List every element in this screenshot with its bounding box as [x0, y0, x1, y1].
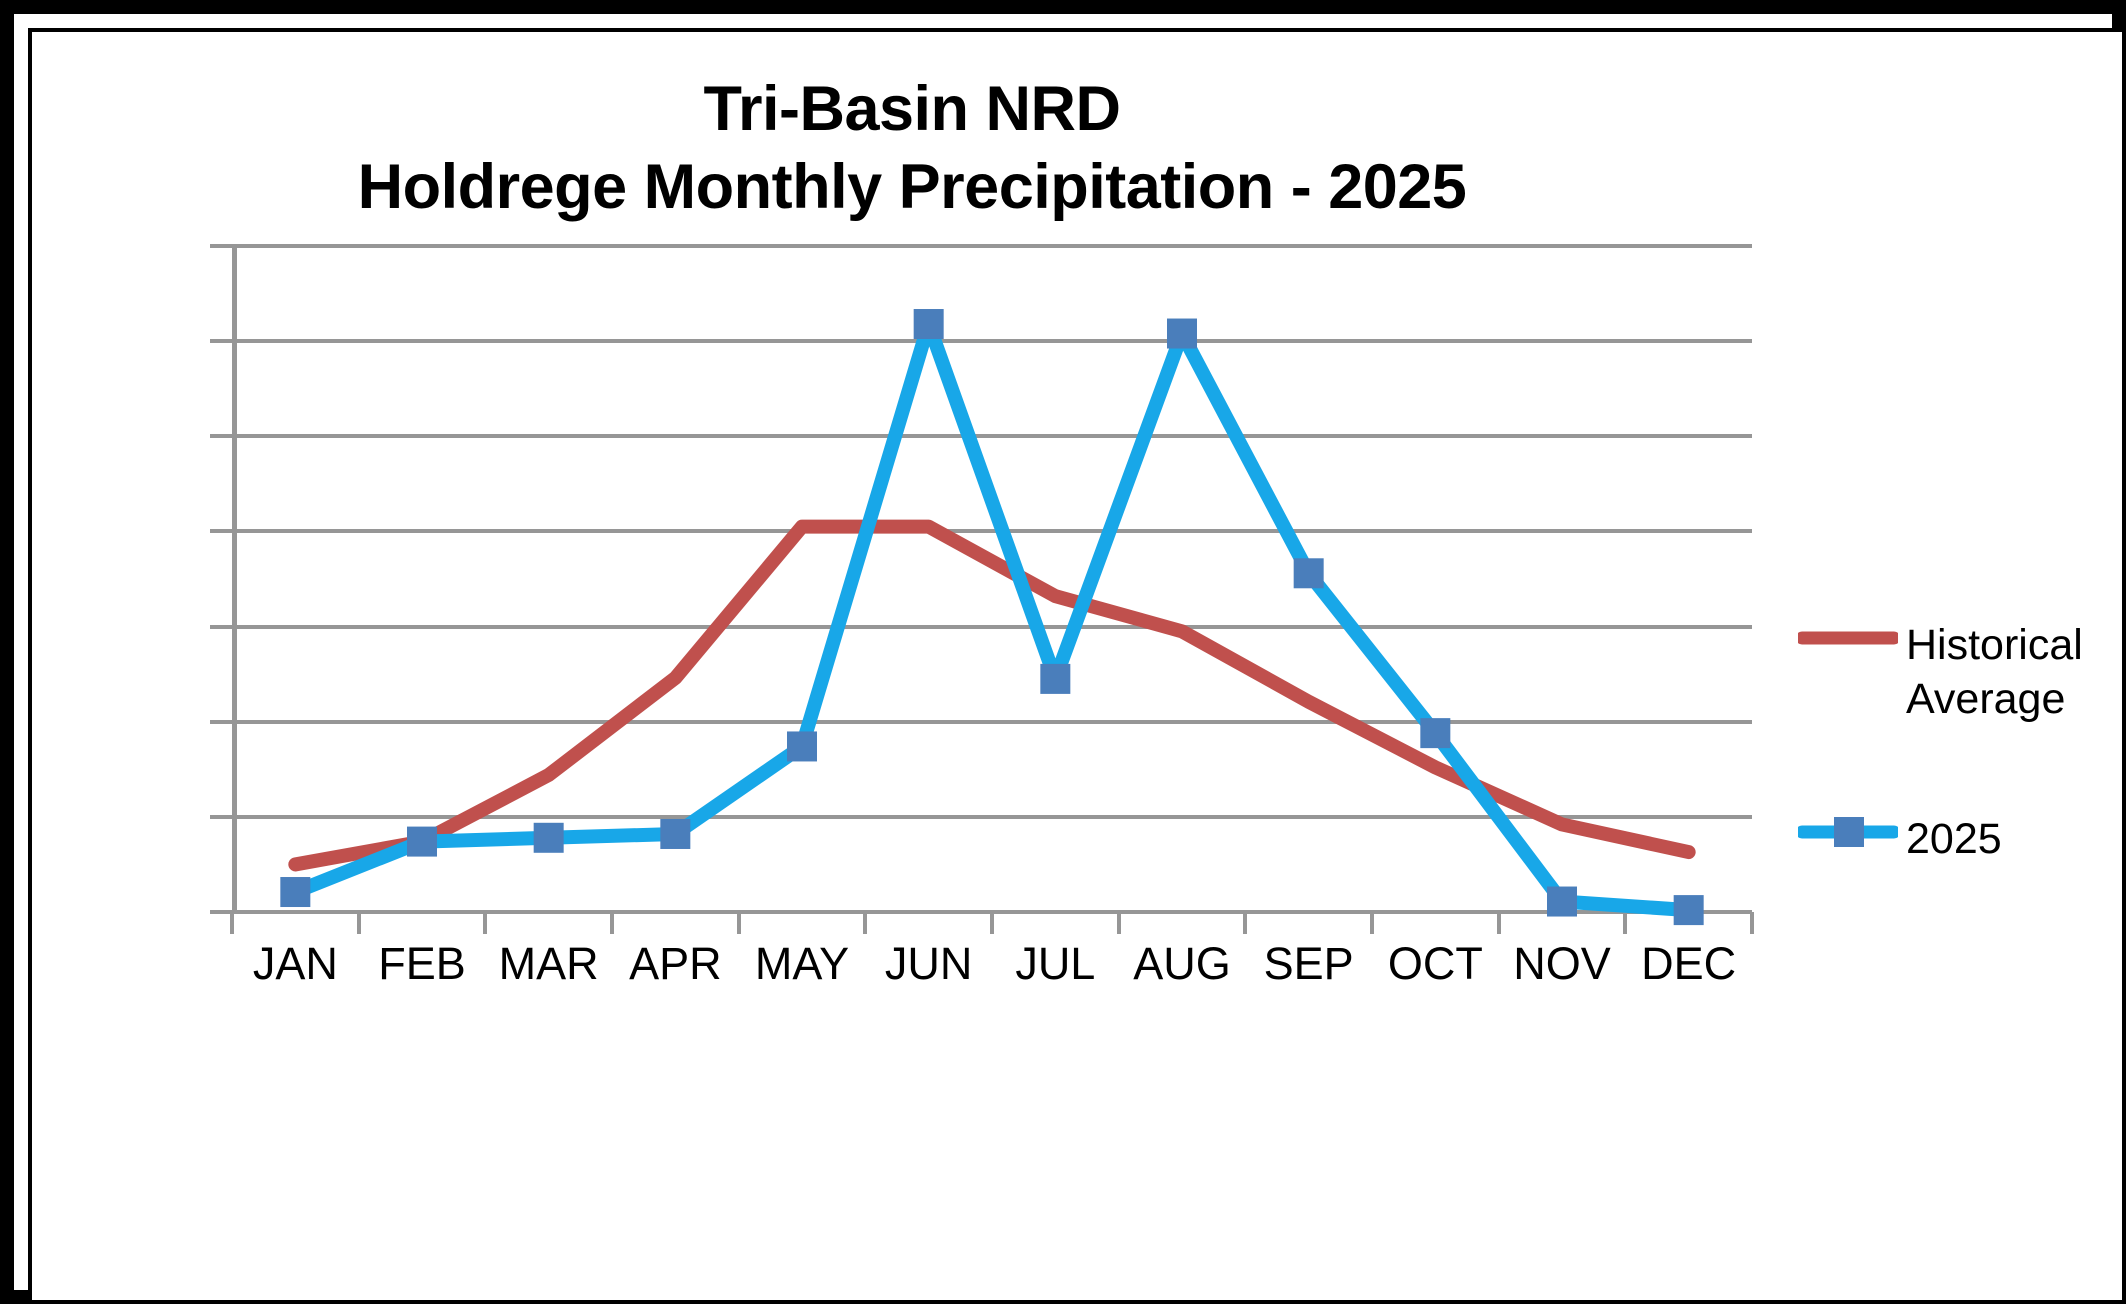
- data-point-marker: [1674, 895, 1704, 925]
- data-point-marker: [280, 877, 310, 907]
- chart-canvas: Tri-Basin NRD Holdrege Monthly Precipita…: [28, 28, 2126, 1304]
- y-axis-tick: [210, 910, 232, 914]
- chart-title: Tri-Basin NRD Holdrege Monthly Precipita…: [32, 70, 1792, 226]
- x-axis-tick: [483, 912, 487, 934]
- x-axis-tick: [1370, 912, 1374, 934]
- y-axis-tick: [210, 720, 232, 724]
- y-axis-tick: [210, 815, 232, 819]
- data-point-marker: [1420, 718, 1450, 748]
- x-axis-tick: [1243, 912, 1247, 934]
- chart-series-svg: [232, 246, 1752, 912]
- data-point-marker: [1547, 887, 1577, 917]
- legend-line-swatch-historical: [1798, 618, 1898, 658]
- legend-label-historical-average: Historical Average: [1906, 618, 2098, 726]
- x-axis-tick: [990, 912, 994, 934]
- y-axis-tick: [210, 529, 232, 533]
- x-axis-tick: [230, 912, 234, 934]
- data-point-marker: [407, 827, 437, 857]
- data-point-marker: [914, 309, 944, 339]
- data-point-marker: [787, 731, 817, 761]
- x-axis-tick: [610, 912, 614, 934]
- data-point-marker: [534, 823, 564, 853]
- x-axis-tick-label: DEC: [1589, 938, 1789, 990]
- legend-line-swatch-2025: [1798, 812, 1898, 852]
- chart-title-line-2: Holdrege Monthly Precipitation - 2025: [32, 148, 1792, 226]
- data-point-marker: [1167, 319, 1197, 349]
- y-axis-tick: [210, 244, 232, 248]
- series-line-historical-average: [295, 527, 1688, 865]
- x-axis-tick: [1117, 912, 1121, 934]
- x-axis-tick: [357, 912, 361, 934]
- data-point-marker: [1040, 664, 1070, 694]
- y-axis-tick: [210, 434, 232, 438]
- x-axis-tick: [1497, 912, 1501, 934]
- legend-label-2025: 2025: [1906, 812, 2098, 866]
- chart-outer-border: Tri-Basin NRD Holdrege Monthly Precipita…: [0, 0, 2126, 1304]
- x-axis-tick: [737, 912, 741, 934]
- plot-area: [232, 246, 1752, 912]
- y-axis-tick: [210, 339, 232, 343]
- chart-title-line-1: Tri-Basin NRD: [32, 70, 1792, 148]
- y-axis-tick: [210, 625, 232, 629]
- legend-item-historical-average: Historical Average: [1798, 618, 2098, 726]
- x-axis-tick: [863, 912, 867, 934]
- data-point-marker: [660, 819, 690, 849]
- x-axis-tick: [1750, 912, 1754, 934]
- chart-legend: Historical Average 2025: [1798, 618, 2098, 876]
- series-line-2025: [295, 324, 1688, 910]
- legend-item-2025: 2025: [1798, 812, 2098, 866]
- data-point-marker: [1294, 558, 1324, 588]
- x-axis-tick: [1623, 912, 1627, 934]
